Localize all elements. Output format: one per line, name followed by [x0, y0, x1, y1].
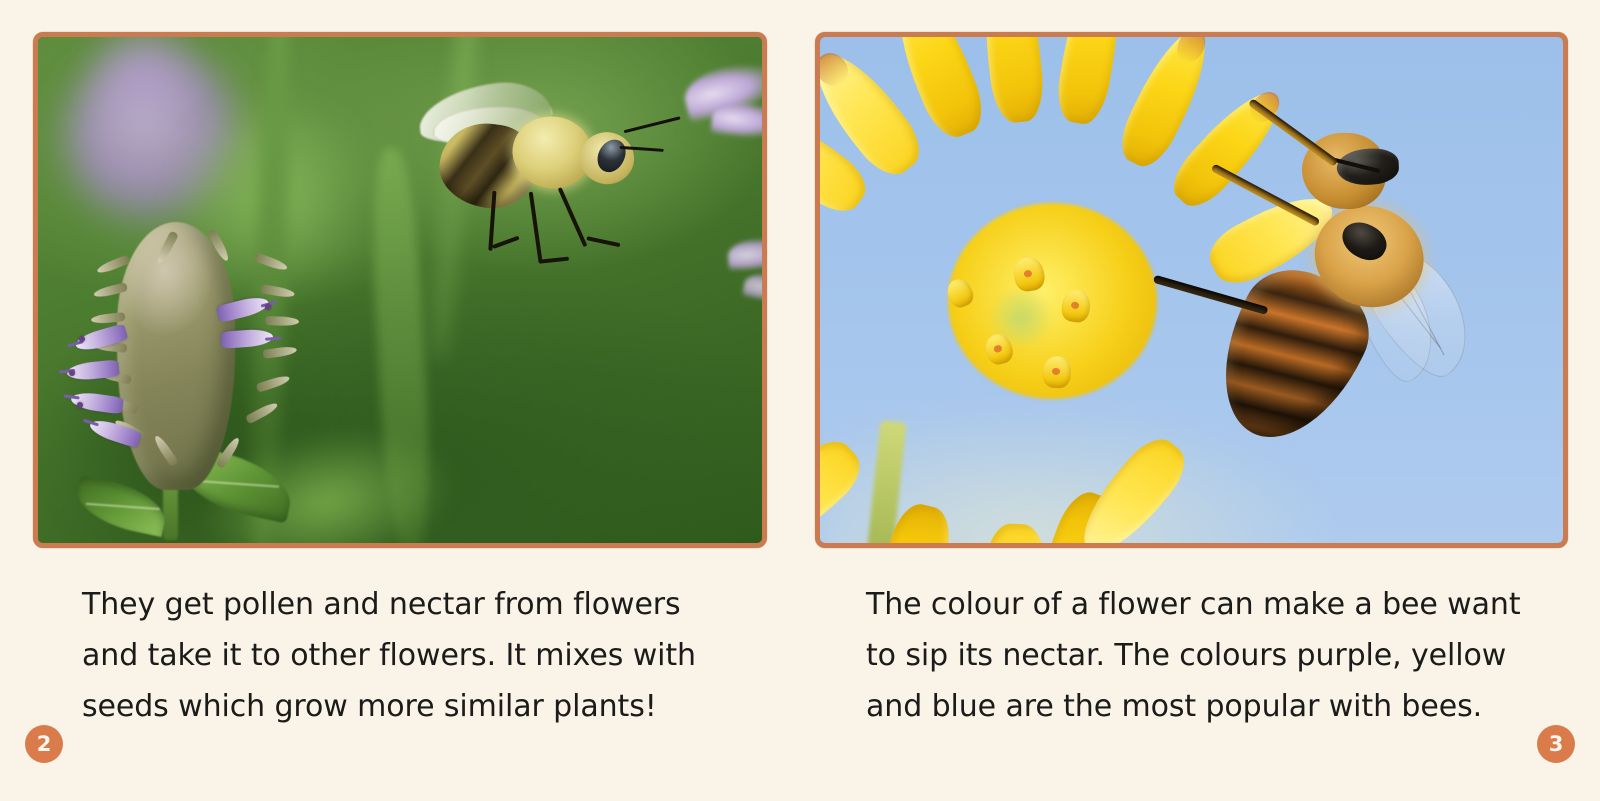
mint-flower-spike	[81, 208, 291, 538]
photo-frame-bumblebee[interactable]	[33, 32, 767, 548]
flower-nub-dot	[1070, 301, 1079, 309]
page-left: They get pollen and nectar from flowers …	[0, 0, 800, 801]
mint-floret	[221, 328, 274, 349]
mint-bract	[254, 252, 289, 272]
bumblebee	[387, 61, 664, 304]
book-spread: They get pollen and nectar from flowers …	[0, 0, 1600, 801]
mint-bract	[265, 316, 299, 326]
mint-spike-body	[117, 222, 235, 490]
bumblebee-leg	[586, 237, 620, 248]
photo-honeybee-on-yellow-flower	[820, 37, 1563, 543]
bumblebee-leg	[539, 257, 569, 264]
flower-petal	[1068, 428, 1196, 543]
mint-floret-anther	[265, 304, 271, 310]
flower-petal	[820, 430, 871, 543]
page-right: The colour of a flower can make a bee wa…	[800, 0, 1600, 801]
bumblebee-leg	[558, 188, 588, 248]
flower-nub-dot	[993, 345, 1002, 353]
flower-nub-dot	[1023, 270, 1033, 279]
flower-petal	[980, 522, 1048, 543]
bumblebee-leg	[529, 192, 543, 264]
page-number-right: 3	[1537, 725, 1575, 763]
photo-frame-honeybee[interactable]	[815, 32, 1568, 548]
caption-left: They get pollen and nectar from flowers …	[82, 579, 722, 732]
flower-petal	[979, 37, 1047, 125]
photo-bumblebee-on-mint	[38, 37, 762, 543]
flower-petal	[1053, 37, 1128, 127]
page-number-left: 2	[25, 725, 63, 763]
flower-nub-dot	[1052, 367, 1060, 375]
caption-right: The colour of a flower can make a bee wa…	[866, 579, 1546, 732]
bumblebee-leg	[492, 236, 520, 249]
mint-bract	[245, 401, 279, 425]
mint-bract	[256, 374, 291, 393]
mint-bract	[261, 284, 296, 299]
